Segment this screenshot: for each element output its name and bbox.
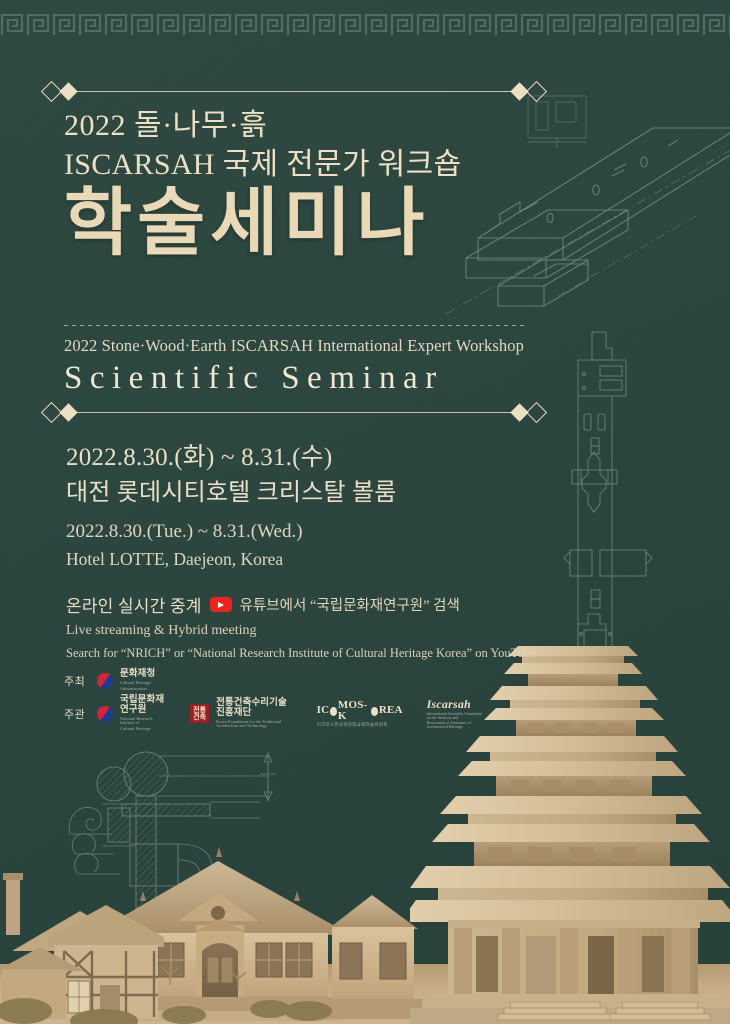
iscarsah-subtitle-2: Restoration of Structures of Architectur… <box>427 721 484 729</box>
manager-role-label: 주관 <box>64 706 90 722</box>
nrich-name-english-2: Cultural Heritage <box>120 727 166 731</box>
streaming-korean-row: 온라인 실시간 중계 유튜브에서 “국립문화재연구원” 검색 <box>66 592 606 617</box>
kftat-name-english: Korea Foundation for the Traditional Arc… <box>216 720 293 729</box>
streaming-search-english: Search for “NRICH” or “National Research… <box>66 644 606 663</box>
venue-korean: 대전 롯데시티호텔 크리스탈 볼룸 <box>66 476 536 510</box>
ornament-rule-top <box>44 84 544 99</box>
icomos-text-b: MOS-K <box>338 700 370 722</box>
icomos-korea-logo: ICMOS-KREA 이코모스한국위원회국제학술위원회 <box>317 700 403 728</box>
streaming-label-korean: 온라인 실시간 중계 <box>66 592 202 617</box>
poster-canvas: 2022 돌·나무·흙 ISCARSAH 국제 전문가 워크숍 학술세미나 20… <box>0 0 730 1024</box>
iscarsah-logo: Iscarsah International Scientific Commit… <box>427 698 484 729</box>
schedule-block: 2022.8.30.(화) ~ 8.31.(수) 대전 롯데시티호텔 크리스탈 … <box>66 440 536 573</box>
manager-logo-nrich: 국립문화재연구원 National Research Institute of … <box>120 696 166 731</box>
icomos-text-a: IC <box>317 705 330 716</box>
iscarsah-subtitle-1: International Scientific Committee on th… <box>427 712 484 720</box>
diamond-hollow-icon <box>526 81 547 102</box>
iscarsah-wordmark: Iscarsah <box>427 698 484 710</box>
host-role-label: 주최 <box>64 673 90 689</box>
taegeuk-icon <box>97 673 113 689</box>
venue-english: Hotel LOTTE, Daejeon, Korea <box>66 547 536 572</box>
organizers-block: 주최 문화재청 Cultural Heritage Administration… <box>64 670 484 736</box>
youtube-icon[interactable] <box>210 597 232 612</box>
title-line-1: 2022 돌·나무·흙 <box>64 108 584 145</box>
title-line-2: ISCARSAH 국제 전문가 워크숍 <box>64 145 584 184</box>
subtitle-english-headline: Scientific Seminar <box>64 360 584 397</box>
icomos-subtitle: 이코모스한국위원회국제학술위원회 <box>317 723 403 728</box>
manager-logo-kftat: 전통건축수리기술진흥재단 Korea Foundation for the Tr… <box>216 699 293 728</box>
red-seal-icon: 전통건축 <box>190 704 209 723</box>
streaming-label-english: Live streaming & Hybrid meeting <box>66 620 606 641</box>
historic-building-illustration <box>0 839 458 1024</box>
dashed-rule <box>64 325 524 326</box>
icomos-text-c: REA <box>379 705 403 716</box>
date-korean: 2022.8.30.(화) ~ 8.31.(수) <box>66 440 536 476</box>
nrich-name-english-1: National Research Institute of <box>120 717 166 726</box>
host-name-english-1: Cultural Heritage <box>120 681 155 685</box>
manager-row: 주관 국립문화재연구원 National Research Institute … <box>64 696 484 731</box>
greek-key-meander-border <box>0 11 730 37</box>
title-headline: 학술세미나 <box>64 186 584 264</box>
streaming-block: 온라인 실시간 중계 유튜브에서 “국립문화재연구원” 검색 Live stre… <box>66 592 606 663</box>
taegeuk-icon <box>97 706 113 722</box>
icomos-wordmark: ICMOS-KREA <box>317 700 403 722</box>
subtitle-block: 2022 Stone·Wood·Earth ISCARSAH Internati… <box>64 336 584 397</box>
icomos-globe-icon <box>330 707 338 716</box>
host-row: 주최 문화재청 Cultural Heritage Administration <box>64 670 484 691</box>
host-name-korean: 문화재청 <box>120 670 155 680</box>
streaming-search-korean: 유튜브에서 “국립문화재연구원” 검색 <box>240 594 460 615</box>
title-block: 2022 돌·나무·흙 ISCARSAH 국제 전문가 워크숍 학술세미나 <box>64 108 584 263</box>
ornament-rule-bottom <box>44 405 544 420</box>
date-english: 2022.8.30.(Tue.) ~ 8.31.(Wed.) <box>66 518 536 546</box>
diamond-hollow-icon <box>526 402 547 423</box>
icomos-globe-icon <box>371 707 379 716</box>
host-name-english-2: Administration <box>120 687 155 691</box>
host-logo-text: 문화재청 Cultural Heritage Administration <box>120 670 155 691</box>
subtitle-english-line: 2022 Stone·Wood·Earth ISCARSAH Internati… <box>64 336 584 356</box>
kftat-name-korean: 전통건축수리기술진흥재단 <box>216 699 293 718</box>
nrich-name-korean: 국립문화재연구원 <box>120 696 166 715</box>
